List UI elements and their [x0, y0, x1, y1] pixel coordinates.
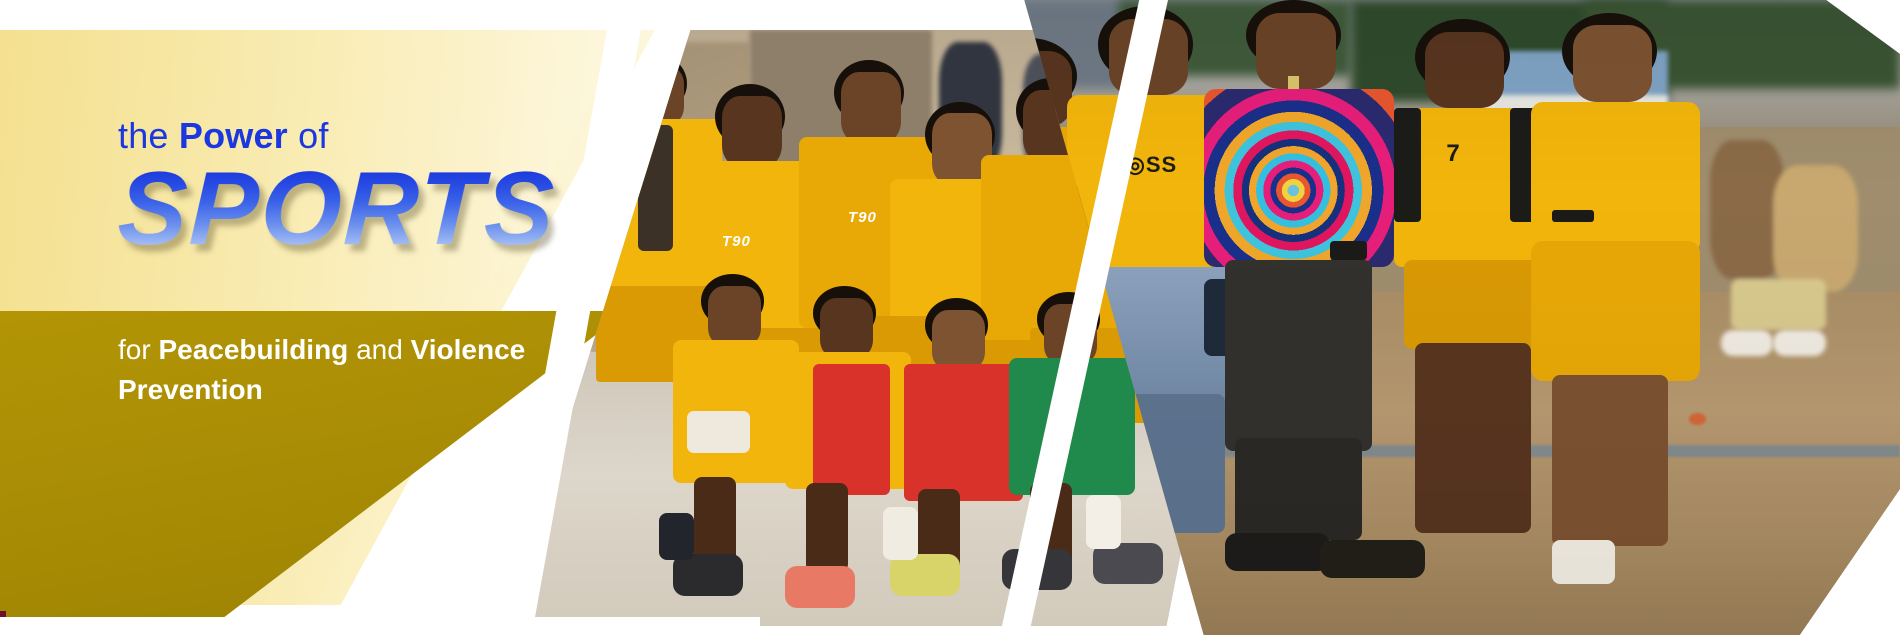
- photo1-sock-3: [659, 513, 694, 561]
- headline-sports-word: SPORTS: [116, 160, 739, 260]
- headline-block: the Power of SPORTS: [118, 118, 738, 260]
- sports-peacebuilding-banner: T90 T90: [0, 0, 1900, 635]
- photo1-sock-1: [883, 507, 918, 561]
- photo1-front1-face: [708, 286, 761, 346]
- photo1-shoe-2: [785, 566, 855, 608]
- tagline-lead: for: [118, 334, 158, 365]
- photo1-shoe-5: [1093, 543, 1163, 585]
- photo1-leg-2: [806, 483, 848, 572]
- bottom-white-margin: [0, 617, 760, 635]
- photo1-front2-face: [820, 298, 873, 358]
- photo1-shoe-3: [890, 554, 960, 596]
- tagline-bold-peacebuilding: Peacebuilding: [158, 334, 348, 365]
- photo1-shoe-1: [673, 554, 743, 596]
- photo1-sock-2: [1086, 495, 1121, 549]
- photo1-front2-bib: [813, 364, 890, 495]
- tagline-block: for Peacebuilding and Violence Preventio…: [118, 330, 638, 410]
- photo1-boy3-jersey-logo: T90: [848, 209, 877, 226]
- photo1-front1-bandage: [687, 411, 750, 453]
- top-white-margin: [0, 0, 880, 30]
- photo1-front3-face: [932, 310, 985, 370]
- photo1-front3-bib: [904, 364, 1023, 501]
- kicker-bold: Power: [179, 115, 288, 156]
- photo1-boy3-face: [841, 72, 901, 144]
- headline-kicker: the Power of: [118, 118, 738, 154]
- photo1-boy1-face: [631, 66, 684, 126]
- kicker-tail: of: [288, 115, 329, 156]
- tagline-mid: and: [348, 334, 410, 365]
- kicker-lead: the: [118, 115, 179, 156]
